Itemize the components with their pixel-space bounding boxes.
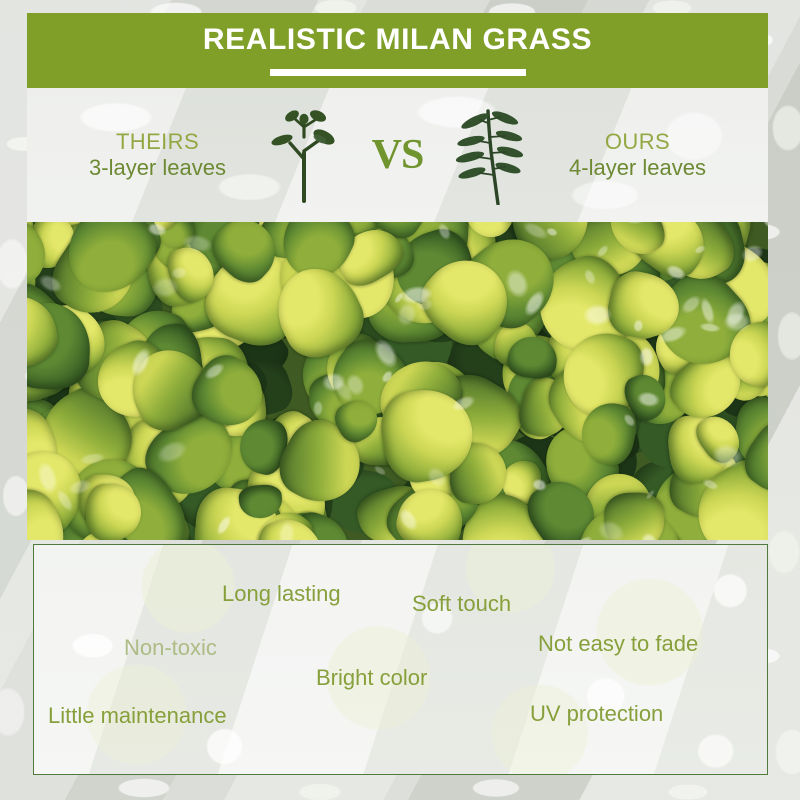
vs-divider-label: VS bbox=[350, 131, 446, 179]
leaf-panel-texture bbox=[27, 222, 768, 540]
ours-spec: 4-layer leaves bbox=[538, 155, 738, 181]
feature-label: Long lasting bbox=[222, 583, 341, 605]
title-underline-rule bbox=[270, 69, 526, 76]
feature-label: Not easy to fade bbox=[538, 633, 698, 655]
feature-label: UV protection bbox=[530, 703, 663, 725]
header-banner: REALISTIC MILAN GRASS bbox=[27, 13, 768, 88]
feature-label: Little maintenance bbox=[48, 705, 227, 727]
theirs-spec: 3-layer leaves bbox=[58, 155, 258, 181]
feature-label: Soft touch bbox=[412, 593, 511, 615]
comparison-row: THEIRS 3-layer leaves bbox=[27, 88, 768, 222]
comparison-section: THEIRS 3-layer leaves bbox=[27, 88, 768, 222]
comparison-right-label: OURS 4-layer leaves bbox=[538, 129, 738, 181]
feature-label: Bright color bbox=[316, 667, 427, 689]
theirs-heading: THEIRS bbox=[58, 129, 258, 155]
page-title: REALISTIC MILAN GRASS bbox=[203, 25, 592, 55]
comparison-left-label: THEIRS 3-layer leaves bbox=[58, 129, 258, 181]
product-photo bbox=[27, 222, 768, 540]
ours-heading: OURS bbox=[538, 129, 738, 155]
feature-highlights-panel: Long lastingSoft touchNon-toxicNot easy … bbox=[33, 544, 768, 775]
full-plant-sprig-icon bbox=[446, 105, 538, 205]
sparse-plant-sprig-icon bbox=[258, 107, 350, 203]
feature-label: Non-toxic bbox=[124, 637, 217, 659]
